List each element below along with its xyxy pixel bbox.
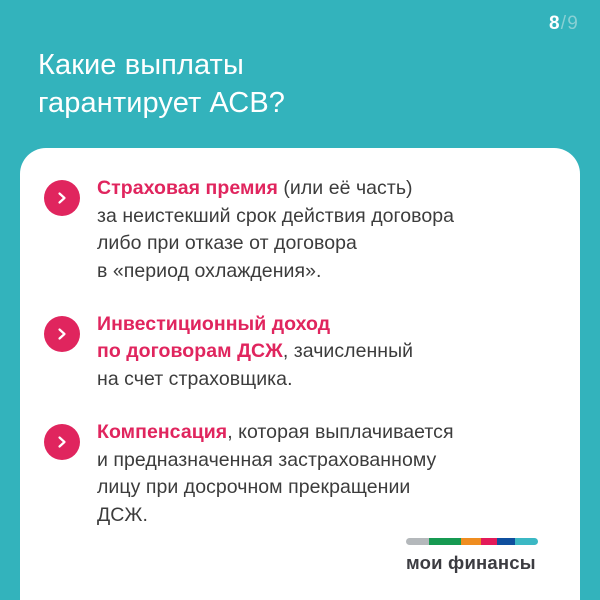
brand-logo-bar-4 <box>497 538 515 545</box>
page-title: Какие выплаты гарантирует АСВ? <box>38 47 518 121</box>
page-counter-separator: / <box>561 14 566 33</box>
list-item: Страховая премия (или её часть) за неист… <box>44 174 566 286</box>
page-counter-current: 8 <box>549 14 560 33</box>
list-item-text: Инвестиционный доход по договорам ДСЖ, з… <box>97 310 566 394</box>
chevron-right-icon <box>44 424 80 460</box>
list-item-lead: Страховая премия <box>97 177 278 199</box>
brand-logo-bar-3 <box>481 538 498 545</box>
page-counter-total: 9 <box>567 14 578 33</box>
brand-logo-bar-0 <box>406 538 429 545</box>
list-item-text: Страховая премия (или её часть) за неист… <box>97 174 566 286</box>
brand-logo: мои финансы <box>406 538 538 573</box>
list-item-lead: Компенсация <box>97 421 227 443</box>
slide-root: 8 / 9 Какие выплаты гарантирует АСВ? Стр… <box>0 0 600 600</box>
page-counter: 8 / 9 <box>549 14 578 33</box>
chevron-right-icon <box>44 180 80 216</box>
bullet-list: Страховая премия (или её часть) за неист… <box>44 174 566 530</box>
brand-logo-bar-2 <box>461 538 481 545</box>
chevron-right-icon <box>44 316 80 352</box>
list-item-text: Компенсация, которая выплачивается и пре… <box>97 418 566 530</box>
brand-logo-bar-1 <box>429 538 461 545</box>
content-card: Страховая премия (или её часть) за неист… <box>20 148 580 600</box>
brand-logo-bar-5 <box>515 538 538 545</box>
brand-logo-bars <box>406 538 538 545</box>
list-item: Компенсация, которая выплачивается и пре… <box>44 418 566 530</box>
brand-logo-text: мои финансы <box>406 554 538 573</box>
list-item: Инвестиционный доход по договорам ДСЖ, з… <box>44 310 566 394</box>
